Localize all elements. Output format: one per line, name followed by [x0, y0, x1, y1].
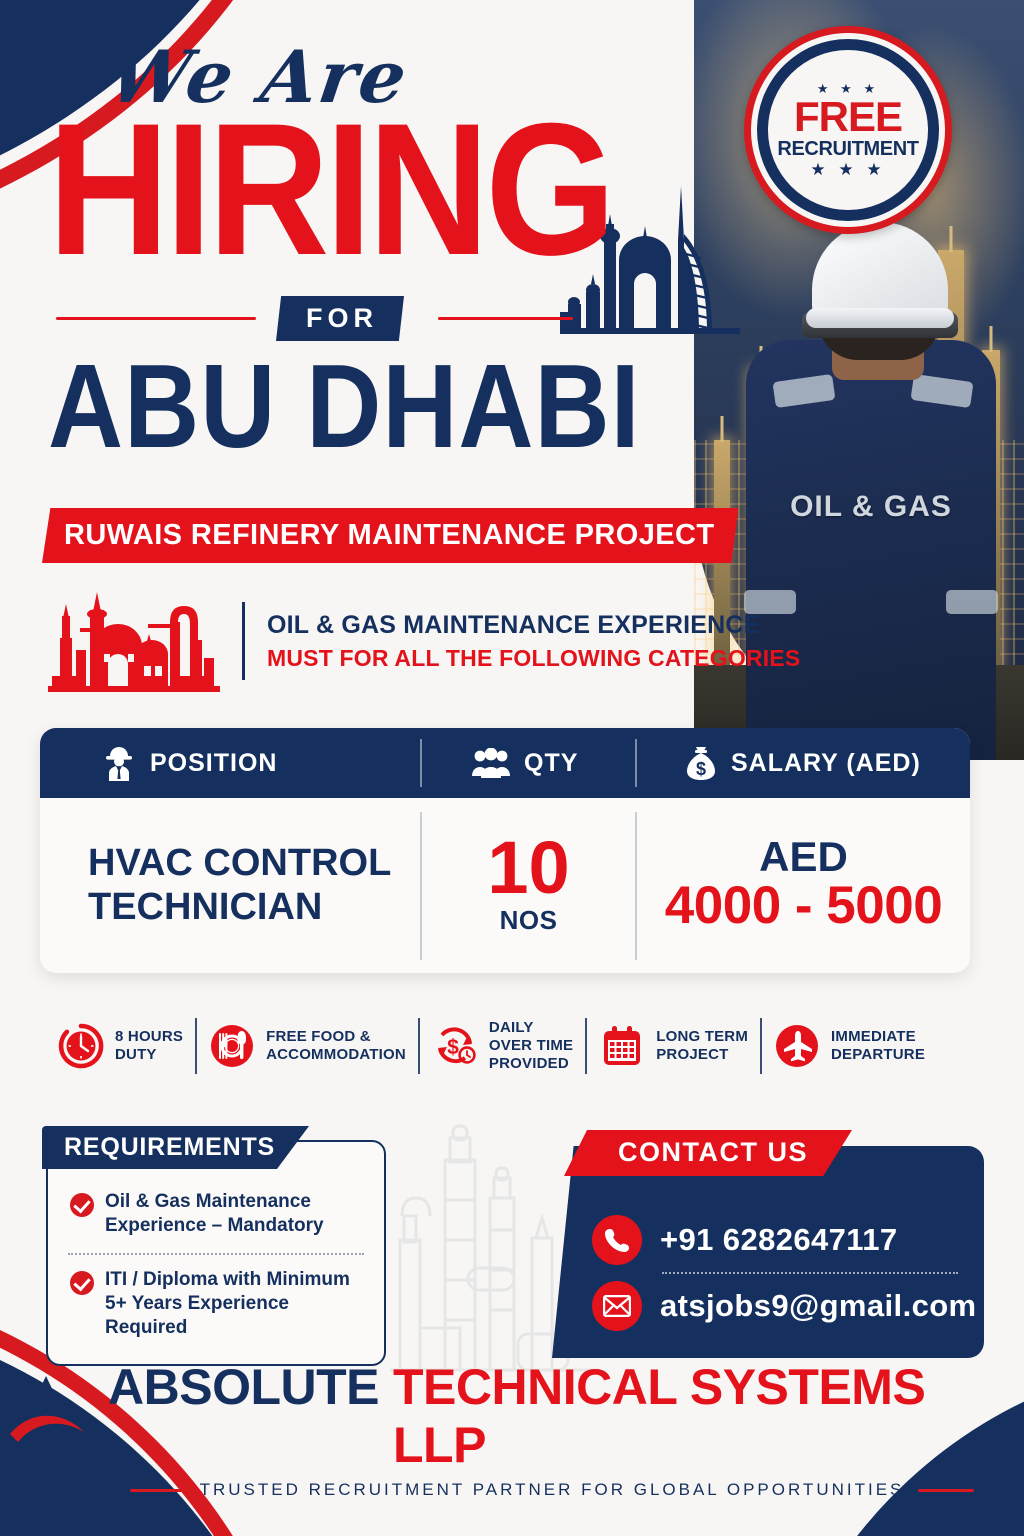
location-headline: ABU DHABI [48, 348, 641, 467]
benefit-line-1: 8 HOURS [115, 1028, 183, 1046]
envelope-icon [592, 1281, 642, 1331]
poster-root: OIL & GAS [0, 0, 1024, 1536]
phone-number: +91 6282647117 [660, 1222, 898, 1258]
benefit-line-1: DAILY [489, 1019, 573, 1037]
footer-brand-row: ABSOLUTE TECHNICAL SYSTEMS LLP [0, 1358, 1024, 1474]
benefit-item: IMMEDIATE DEPARTURE [762, 1023, 937, 1069]
phone-icon [592, 1215, 642, 1265]
jobs-table: POSITION QTY $ [40, 728, 970, 973]
check-icon [70, 1193, 94, 1217]
experience-divider [242, 602, 245, 680]
experience-note: OIL & GAS MAINTENANCE EXPERIENCE MUST FO… [48, 588, 800, 694]
food-icon [209, 1023, 255, 1069]
overtime-icon: $ [432, 1023, 478, 1069]
benefit-line-2: DEPARTURE [831, 1046, 925, 1064]
footer: ABSOLUTE TECHNICAL SYSTEMS LLP TRUSTED R… [0, 1358, 1024, 1500]
benefits-row: 8 HOURS DUTY FREE FOOD & [46, 1018, 984, 1074]
cell-qty: 10 NOS [420, 812, 635, 960]
brand-part-2: TECHNICAL SYSTEMS LLP [393, 1358, 1024, 1474]
requirements-title: REQUIREMENTS [42, 1126, 309, 1169]
benefit-text: DAILY OVER TIME PROVIDED [489, 1019, 573, 1072]
table-header-position: POSITION [40, 745, 420, 781]
stars-bottom-icon: ★ ★ ★ [810, 161, 885, 178]
benefit-line-3: PROVIDED [489, 1055, 573, 1073]
badge-core: ★ ★ ★ FREE RECRUITMENT ★ ★ ★ [768, 50, 928, 210]
benefit-separator [418, 1018, 420, 1074]
email-address: atsjobs9@gmail.com [660, 1288, 977, 1324]
table-header-row: POSITION QTY $ [40, 728, 970, 798]
svg-text:$: $ [447, 1036, 459, 1059]
position-line-2: TECHNICIAN [88, 886, 420, 929]
benefit-line-1: IMMEDIATE [831, 1028, 925, 1046]
tagline-dash-right [918, 1489, 974, 1492]
experience-text: OIL & GAS MAINTENANCE EXPERIENCE MUST FO… [267, 611, 800, 672]
contact-rows: +91 6282647117 atsjobs9@gmail.com [592, 1208, 968, 1338]
table-header-salary: $ SALARY (AED) [635, 739, 970, 787]
footer-brand: ABSOLUTE TECHNICAL SYSTEMS LLP [108, 1358, 1024, 1474]
worker-coverall: OIL & GAS [746, 340, 996, 760]
project-banner: RUWAIS REFINERY MAINTENANCE PROJECT [42, 508, 738, 563]
salary-currency: AED [759, 836, 848, 878]
requirement-text: ITI / Diploma with Minimum 5+ Years Expe… [105, 1268, 368, 1340]
money-bag-icon: $ [685, 745, 717, 781]
requirement-item: Oil & Gas Maintenance Experience – Manda… [64, 1186, 368, 1246]
cell-position: HVAC CONTROL TECHNICIAN [40, 842, 420, 929]
benefit-line-2: ACCOMMODATION [266, 1046, 406, 1064]
benefit-separator [760, 1018, 762, 1074]
requirements-card: REQUIREMENTS Oil & Gas Maintenance Exper… [46, 1140, 386, 1366]
footer-tagline: TRUSTED RECRUITMENT PARTNER FOR GLOBAL O… [200, 1480, 905, 1500]
position-line-1: HVAC CONTROL [88, 842, 420, 885]
reflective-stripe [946, 590, 998, 614]
footer-tagline-row: TRUSTED RECRUITMENT PARTNER FOR GLOBAL O… [0, 1480, 1024, 1500]
cell-salary: AED 4000 - 5000 [635, 812, 970, 960]
qty-number: 10 [487, 835, 569, 902]
benefit-separator [195, 1018, 197, 1074]
contact-title: CONTACT US [564, 1130, 852, 1176]
benefit-line-2: PROJECT [656, 1046, 748, 1064]
check-icon [70, 1271, 94, 1295]
badge-free-label: FREE [794, 97, 902, 137]
badge-recruitment-label: RECRUITMENT [777, 139, 918, 159]
benefit-item: LONG TERM PROJECT [587, 1023, 760, 1069]
reflective-stripe [772, 374, 835, 408]
qty-unit: NOS [500, 905, 558, 936]
benefit-item: FREE FOOD & ACCOMMODATION [197, 1023, 418, 1069]
engineer-icon [102, 745, 136, 781]
experience-line-2: MUST FOR ALL THE FOLLOWING CATEGORIES [267, 645, 800, 672]
badge-ring-inner: ★ ★ ★ FREE RECRUITMENT ★ ★ ★ [757, 39, 939, 221]
tagline-dash-left [130, 1489, 186, 1492]
for-rule-left [56, 317, 256, 320]
benefit-line-1: FREE FOOD & [266, 1028, 406, 1046]
benefit-line-2: OVER TIME [489, 1037, 573, 1055]
contact-card: +91 6282647117 atsjobs9@gmail.com [552, 1146, 984, 1358]
requirements-divider [68, 1253, 364, 1255]
contact-email-row[interactable]: atsjobs9@gmail.com [592, 1274, 968, 1338]
calendar-icon [599, 1023, 645, 1069]
for-rule-right [438, 317, 573, 320]
requirement-text: Oil & Gas Maintenance Experience – Manda… [105, 1190, 368, 1238]
salary-value: 4000 - 5000 [665, 878, 942, 934]
benefit-text: 8 HOURS DUTY [115, 1028, 183, 1063]
requirement-item: ITI / Diploma with Minimum 5+ Years Expe… [64, 1264, 368, 1348]
benefit-item: 8 HOURS DUTY [46, 1023, 195, 1069]
badge-ring-outer: ★ ★ ★ FREE RECRUITMENT ★ ★ ★ [751, 33, 945, 227]
for-label: FOR [276, 296, 404, 341]
table-header-label: SALARY (AED) [731, 749, 921, 778]
benefit-text: IMMEDIATE DEPARTURE [831, 1028, 925, 1063]
hard-hat-icon [812, 222, 948, 320]
hiring-headline: HIRING [48, 95, 612, 283]
airplane-icon [774, 1023, 820, 1069]
svg-text:$: $ [696, 759, 706, 779]
clock-icon [58, 1023, 104, 1069]
benefit-text: LONG TERM PROJECT [656, 1028, 748, 1063]
table-header-label: QTY [524, 749, 578, 778]
benefit-line-1: LONG TERM [656, 1028, 748, 1046]
experience-line-1: OIL & GAS MAINTENANCE EXPERIENCE [267, 611, 800, 640]
refinery-plant-icon [48, 588, 220, 694]
reflective-stripe [910, 374, 973, 408]
brand-part-1: ABSOLUTE [108, 1358, 379, 1416]
contact-phone-row[interactable]: +91 6282647117 [592, 1208, 968, 1272]
table-row: HVAC CONTROL TECHNICIAN 10 NOS AED 4000 … [40, 798, 970, 973]
people-icon [472, 748, 510, 778]
table-header-qty: QTY [420, 739, 635, 787]
benefit-text: FREE FOOD & ACCOMMODATION [266, 1028, 406, 1063]
benefit-line-2: DUTY [115, 1046, 183, 1064]
benefit-separator [585, 1018, 587, 1074]
benefit-item: $ DAILY OVER TIME PROVIDED [420, 1019, 585, 1072]
free-recruitment-badge: ★ ★ ★ FREE RECRUITMENT ★ ★ ★ [744, 26, 952, 234]
table-header-label: POSITION [150, 749, 277, 778]
uniform-text: OIL & GAS [746, 490, 996, 524]
for-divider-row: FOR [48, 296, 688, 340]
absolute-a-logo-icon [0, 1370, 92, 1462]
